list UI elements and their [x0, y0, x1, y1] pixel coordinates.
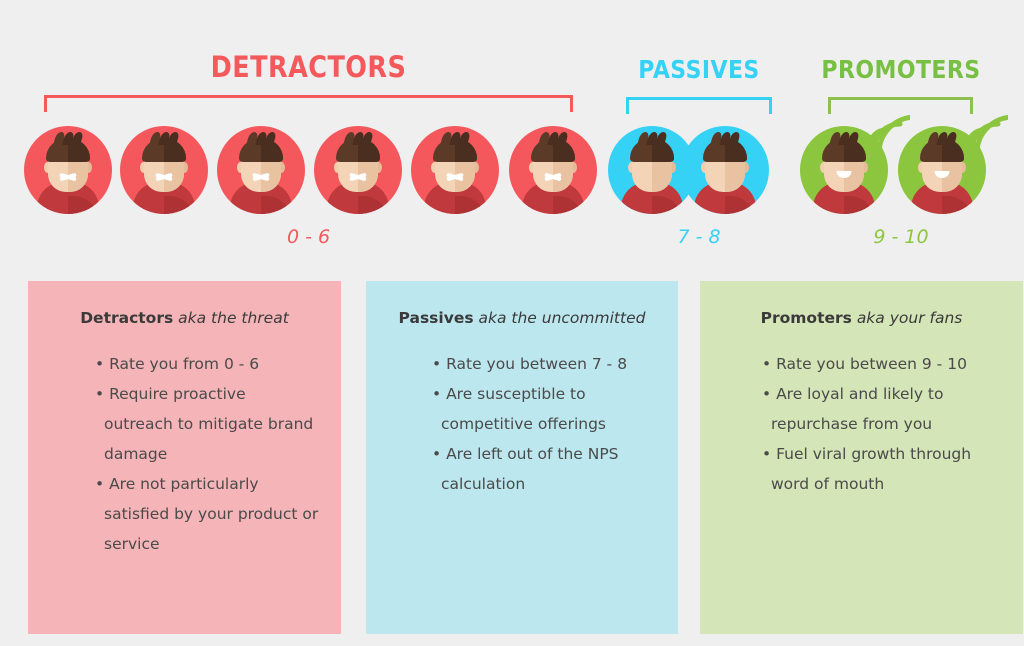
- shirt-shadow: [844, 196, 875, 214]
- panel-heading-aka: aka the uncommitted: [479, 309, 646, 327]
- range-label-passives: 7 - 8: [604, 226, 794, 248]
- range-label-detractors: 0 - 6: [0, 226, 617, 248]
- x-taped-mouth-icon: [545, 171, 562, 181]
- avatar-detractors-5: [411, 126, 499, 214]
- x-taped-mouth-icon: [350, 171, 367, 181]
- avatar-disc: [24, 126, 112, 214]
- shirt-shadow: [164, 196, 195, 214]
- shirt-shadow: [725, 196, 756, 214]
- bullet-item: • Require proactive outreach to mitigate…: [95, 379, 319, 469]
- bullet-item: • Are left out of the NPS calculation: [432, 439, 656, 499]
- panel-detractors: Detractors aka the threat • Rate you fro…: [28, 281, 341, 634]
- panel-heading-strong: Promoters: [761, 309, 852, 327]
- bullet-list-passives: • Rate you between 7 - 8• Are susceptibl…: [388, 349, 656, 499]
- avatar-disc: [411, 126, 499, 214]
- avatar-detractors-2: [120, 126, 208, 214]
- avatar-disc: [509, 126, 597, 214]
- bullet-item: • Are not particularly satisfied by your…: [95, 469, 319, 559]
- bullet-list-detractors: • Rate you from 0 - 6• Require proactive…: [50, 349, 319, 559]
- bracket-passives: [626, 97, 772, 114]
- bullet-list-promoters: • Rate you between 9 - 10• Are loyal and…: [722, 349, 1001, 499]
- bullet-item: • Are loyal and likely to repurchase fro…: [762, 379, 1001, 439]
- avatar-disc: [314, 126, 402, 214]
- panel-heading-strong: Detractors: [80, 309, 173, 327]
- group-title-promoters: PROMOTERS: [810, 55, 991, 84]
- avatar-disc: [681, 126, 769, 214]
- bracket-promoters: [828, 97, 973, 114]
- x-taped-mouth-icon: [253, 171, 270, 181]
- avatar-promoters-1: [800, 126, 888, 214]
- panel-promoters: Promoters aka your fans • Rate you betwe…: [700, 281, 1023, 634]
- group-title-detractors: DETRACTORS: [37, 50, 580, 84]
- panel-heading-aka: aka your fans: [857, 309, 963, 327]
- bullet-item: • Are susceptible to competitive offerin…: [432, 379, 656, 439]
- avatar-detractors-6: [509, 126, 597, 214]
- nps-infographic: DETRACTORS PASSIVES PROMOTERS 0 - 6 7 - …: [0, 0, 1024, 646]
- bullet-item: • Fuel viral growth through word of mout…: [762, 439, 1001, 499]
- range-label-promoters: 9 - 10: [798, 226, 1004, 248]
- x-taped-mouth-icon: [447, 171, 464, 181]
- bullet-item: • Rate you from 0 - 6: [95, 349, 319, 379]
- avatar-detractors-4: [314, 126, 402, 214]
- panel-passives: Passives aka the uncommitted • Rate you …: [366, 281, 678, 634]
- bracket-detractors: [44, 95, 573, 112]
- shirt-shadow: [68, 196, 99, 214]
- panel-heading-strong: Passives: [399, 309, 474, 327]
- avatar-promoters-2: [898, 126, 986, 214]
- avatar-disc: [800, 126, 888, 214]
- shirt-shadow: [455, 196, 486, 214]
- shirt-shadow: [261, 196, 292, 214]
- shirt-shadow: [553, 196, 584, 214]
- bullet-item: • Rate you between 7 - 8: [432, 349, 656, 379]
- x-taped-mouth-icon: [156, 171, 173, 181]
- avatar-disc: [120, 126, 208, 214]
- avatar-detractors-1: [24, 126, 112, 214]
- panel-heading-passives: Passives aka the uncommitted: [388, 309, 656, 327]
- avatar-passives-2: [681, 126, 769, 214]
- panel-heading-promoters: Promoters aka your fans: [722, 309, 1001, 327]
- panel-heading-aka: aka the threat: [178, 309, 289, 327]
- avatar-disc: [898, 126, 986, 214]
- shirt-shadow: [652, 196, 683, 214]
- avatar-row: [0, 126, 1024, 216]
- avatar-disc: [217, 126, 305, 214]
- shirt-shadow: [358, 196, 389, 214]
- avatar-detractors-3: [217, 126, 305, 214]
- panel-heading-detractors: Detractors aka the threat: [50, 309, 319, 327]
- shirt-shadow: [942, 196, 973, 214]
- bullet-item: • Rate you between 9 - 10: [762, 349, 1001, 379]
- x-taped-mouth-icon: [60, 171, 77, 181]
- group-title-passives: PASSIVES: [615, 55, 782, 84]
